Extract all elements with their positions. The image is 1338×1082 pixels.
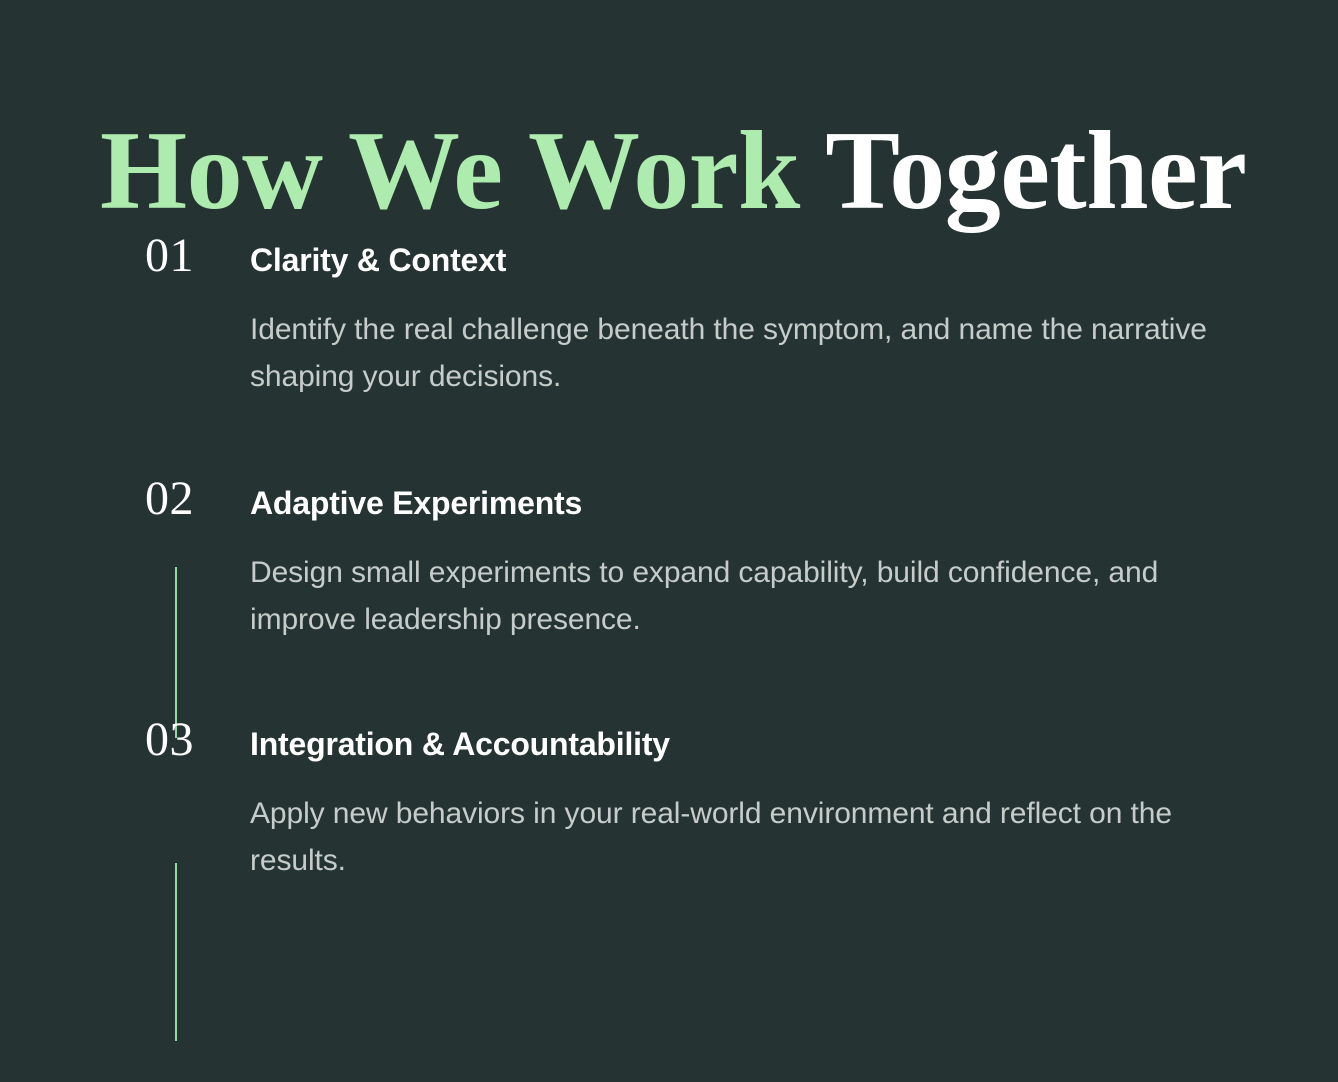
- process-step-01: 01 Clarity & Context Identify the real c…: [0, 232, 1338, 401]
- step-number: 02: [145, 475, 250, 523]
- process-step-02: 02 Adaptive Experiments Design small exp…: [0, 475, 1338, 644]
- step-connector-line-2: [175, 863, 177, 1041]
- spacer: [0, 401, 1338, 475]
- step-number: 03: [145, 716, 250, 764]
- how-we-work-section: How We Work Together 01 Clarity & Contex…: [0, 0, 1338, 1082]
- step-description: Design small experiments to expand capab…: [250, 549, 1270, 644]
- step-description: Apply new behaviors in your real-world e…: [250, 790, 1270, 885]
- process-step-list: 01 Clarity & Context Identify the real c…: [0, 232, 1338, 884]
- page-title-accent: How We Work: [100, 109, 825, 233]
- page-title-plain: Together: [825, 109, 1246, 233]
- step-number: 01: [145, 232, 250, 280]
- step-title: Integration & Accountability: [250, 725, 1278, 763]
- spacer: [0, 644, 1338, 716]
- step-header: 03 Integration & Accountability: [145, 716, 1278, 764]
- process-step-03: 03 Integration & Accountability Apply ne…: [0, 716, 1338, 885]
- step-title: Adaptive Experiments: [250, 484, 1278, 522]
- page-title: How We Work Together: [100, 105, 1300, 237]
- step-header: 02 Adaptive Experiments: [145, 475, 1278, 523]
- step-title: Clarity & Context: [250, 241, 1278, 279]
- step-header: 01 Clarity & Context: [145, 232, 1278, 280]
- step-description: Identify the real challenge beneath the …: [250, 306, 1270, 401]
